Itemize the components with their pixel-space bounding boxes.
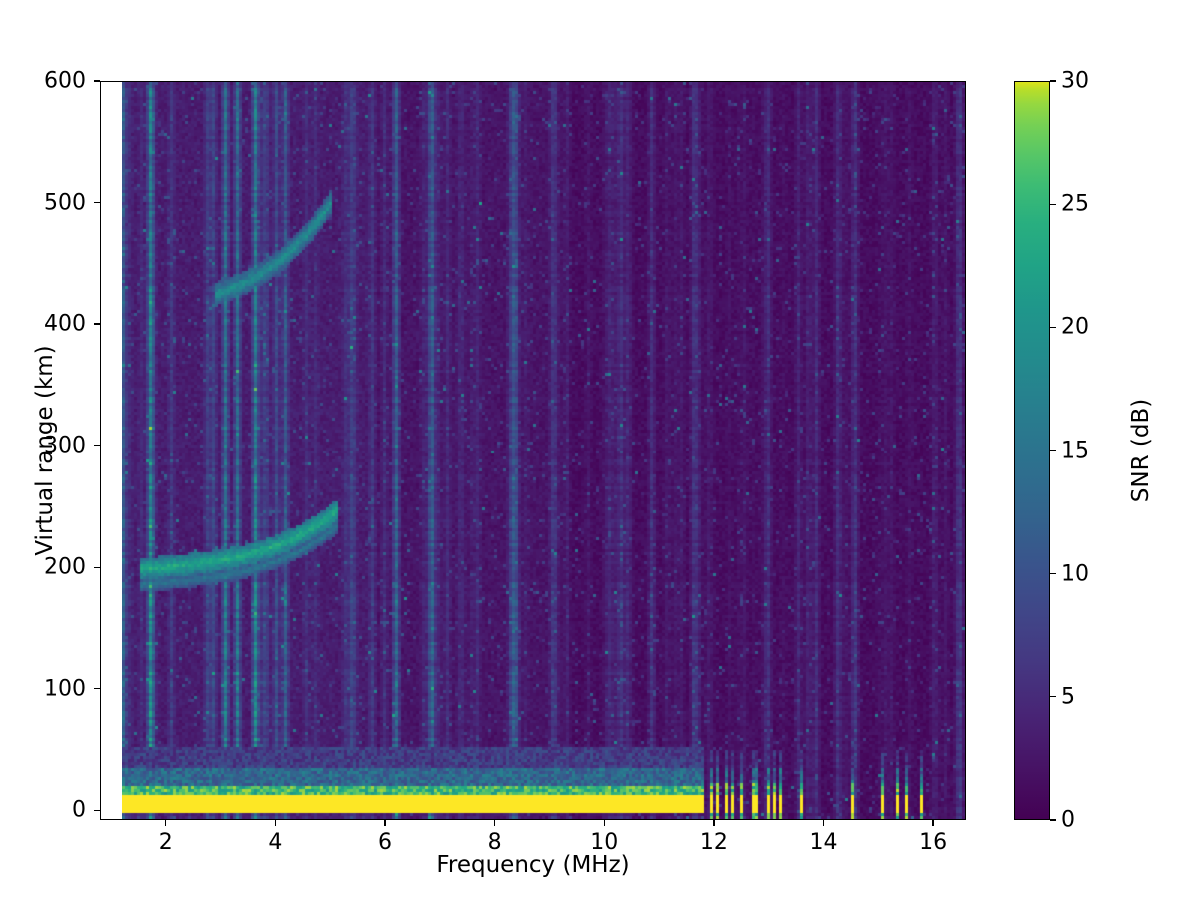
y-tick-mark	[94, 810, 100, 811]
ionogram-figure: IRF Uppsala SDR Ionosonde UP158 2025-11-…	[0, 0, 1200, 900]
colorbar-label: SNR (dB)	[1128, 81, 1154, 820]
x-tick-mark	[604, 820, 605, 826]
colorbar-tick-mark	[1050, 80, 1056, 81]
y-tick-mark	[94, 202, 100, 203]
colorbar-tick-mark	[1050, 450, 1056, 451]
colorbar-tick-mark	[1050, 204, 1056, 205]
colorbar-tick-mark	[1050, 327, 1056, 328]
y-tick-mark	[94, 567, 100, 568]
colorbar-tick-mark	[1050, 819, 1056, 820]
x-axis-label: Frequency (MHz)	[100, 852, 966, 878]
x-tick-mark	[384, 820, 385, 826]
x-tick-mark	[275, 820, 276, 826]
x-tick-mark	[713, 820, 714, 826]
colorbar-tick-label: 25	[1061, 192, 1089, 217]
colorbar-gradient	[1014, 81, 1050, 820]
x-tick-mark	[932, 820, 933, 826]
y-tick-mark	[94, 80, 100, 81]
colorbar-tick-mark	[1050, 573, 1056, 574]
x-tick-mark	[165, 820, 166, 826]
colorbar-tick-label: 0	[1061, 808, 1075, 833]
colorbar-tick-label: 5	[1061, 684, 1075, 709]
colorbar-tick-label: 30	[1061, 69, 1089, 94]
ionogram-heatmap	[122, 82, 965, 819]
colorbar-tick-mark	[1050, 696, 1056, 697]
colorbar-tick-label: 10	[1061, 561, 1089, 586]
y-axis-label: Virtual range (km)	[32, 81, 58, 820]
colorbar-tick-label: 15	[1061, 438, 1089, 463]
x-tick-mark	[494, 820, 495, 826]
y-tick-mark	[94, 323, 100, 324]
colorbar-tick-label: 20	[1061, 315, 1089, 340]
plot-axes	[100, 81, 966, 820]
y-tick-mark	[94, 445, 100, 446]
x-tick-mark	[823, 820, 824, 826]
y-tick-mark	[94, 688, 100, 689]
colorbar	[1014, 81, 1050, 820]
